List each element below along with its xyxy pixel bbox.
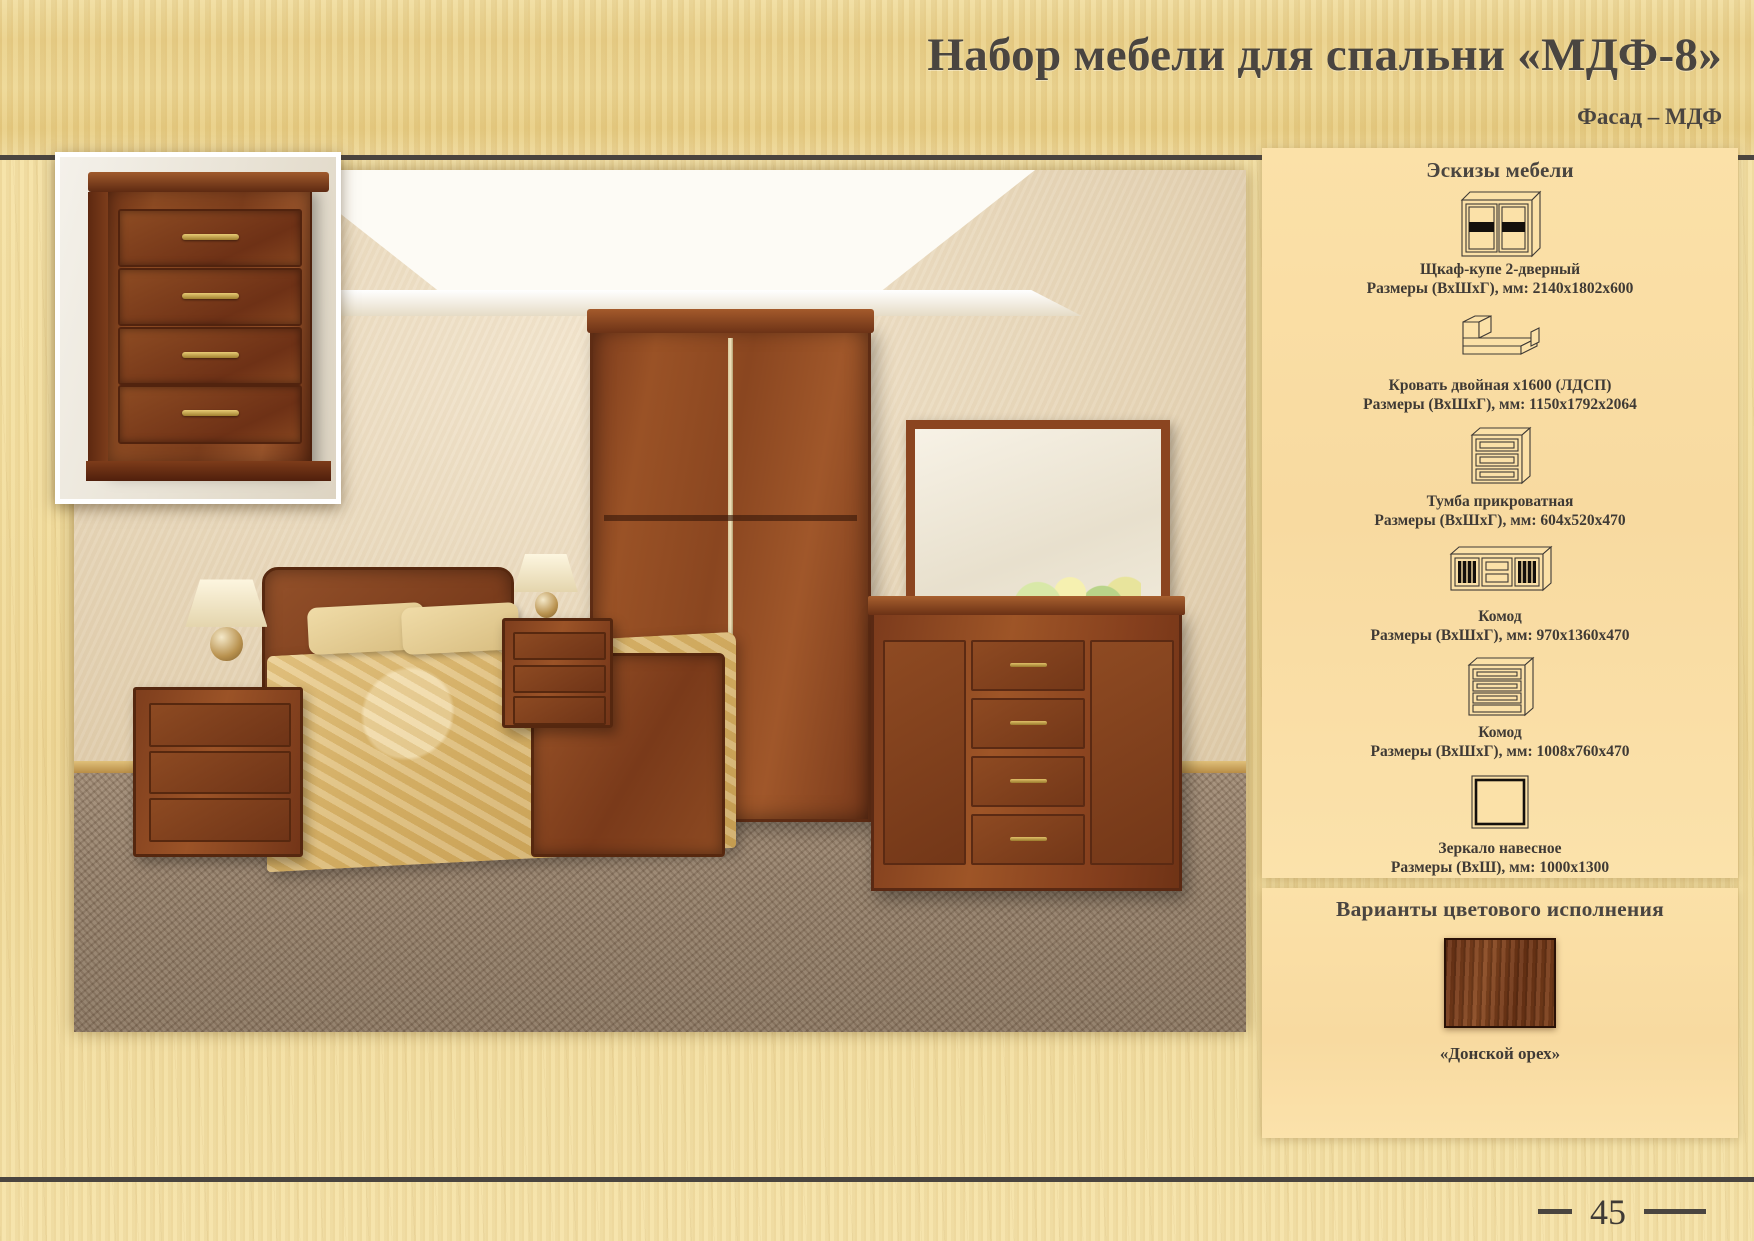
sketch-dimensions: Размеры (ВхШхГ), мм: 604х520х470 (1262, 512, 1738, 531)
dresser-drawer-3 (971, 756, 1085, 807)
chest-drawer-1 (118, 209, 302, 268)
color-swatch-group: «Донской орех» (1262, 938, 1738, 1064)
nightstand-right (502, 618, 613, 727)
sketch-name: Щкаф-купе 2-дверный (1262, 261, 1738, 280)
page-number: 45 (1590, 1191, 1626, 1233)
nightstand-right-drawer-1 (513, 632, 606, 661)
sketch-item-nightstand: Тумба прикроватная Размеры (ВхШхГ), мм: … (1262, 419, 1738, 531)
sketches-panel-title: Эскизы мебели (1262, 148, 1738, 183)
nightstand-left-drawer-3 (149, 798, 291, 841)
dresser-left-door (883, 640, 966, 865)
dresser-drawer-2 (971, 698, 1085, 749)
table-lamp-right-base (535, 592, 558, 618)
chest-of-drawers-icon (1262, 650, 1738, 724)
page-subtitle: Фасад – МДФ (1577, 104, 1722, 130)
dresser-drawer-1 (971, 640, 1085, 691)
table-lamp-left-base (210, 627, 243, 661)
sketch-item-bed: Кровать двойная х1600 (ЛДСП) Размеры (Вх… (1262, 303, 1738, 415)
sketch-name: Кровать двойная х1600 (ЛДСП) (1262, 377, 1738, 396)
footer-dash-right (1644, 1209, 1706, 1214)
chest-side-panel (88, 192, 108, 461)
chest-top-panel (88, 172, 329, 192)
chest-drawer-2 (118, 268, 302, 327)
sketch-dimensions: Размеры (ВхШхГ), мм: 2140х1802х600 (1262, 280, 1738, 299)
nightstand-right-drawer-2 (513, 665, 606, 694)
dresser-top (868, 596, 1185, 615)
nightstand-left-drawer-2 (149, 751, 291, 794)
nightstand-right-drawer-3 (513, 696, 606, 725)
wall-mirror-icon (1262, 766, 1738, 840)
color-panel-title: Варианты цветового исполнения (1262, 888, 1738, 922)
nightstand-icon (1262, 419, 1738, 493)
catalog-page: Набор мебели для спальни «МДФ-8» Фасад –… (0, 0, 1754, 1241)
sketch-dimensions: Размеры (ВхШ), мм: 1000х1300 (1262, 859, 1738, 878)
sideboard-icon (1262, 534, 1738, 608)
sketch-dimensions: Размеры (ВхШхГ), мм: 1008х760х470 (1262, 743, 1738, 762)
chest-of-drawers-object (104, 184, 312, 468)
sketch-list: Щкаф-купе 2-дверный Размеры (ВхШхГ), мм:… (1262, 183, 1738, 878)
nightstand-left (133, 687, 303, 857)
footer-dash-left (1538, 1209, 1572, 1214)
sketch-item-wardrobe: Щкаф-купе 2-дверный Размеры (ВхШхГ), мм:… (1262, 187, 1738, 299)
color-swatch-label: «Донской орех» (1440, 1044, 1560, 1064)
wardrobe-sliding-door-icon (1262, 187, 1738, 261)
chest-drawer-4 (118, 385, 302, 444)
wardrobe-cornice (587, 309, 873, 334)
chest-plinth (86, 461, 331, 481)
dresser-in-photo (871, 610, 1182, 892)
sketch-name: Комод (1262, 608, 1738, 627)
sketch-item-mirror: Зеркало навесное Размеры (ВхШ), мм: 1000… (1262, 766, 1738, 878)
sketch-name: Комод (1262, 724, 1738, 743)
dresser-right-door (1090, 640, 1173, 865)
chest-drawer-3 (118, 327, 302, 386)
sketches-panel: Эскизы мебели (1262, 148, 1738, 878)
sketch-dimensions: Размеры (ВхШхГ), мм: 970х1360х470 (1262, 627, 1738, 646)
nightstand-left-drawer-1 (149, 703, 291, 746)
page-header: Набор мебели для спальни «МДФ-8» Фасад –… (0, 0, 1754, 160)
sketch-name: Тумба прикроватная (1262, 493, 1738, 512)
bed-icon (1262, 303, 1738, 377)
sketch-item-chest: Комод Размеры (ВхШхГ), мм: 1008х760х470 (1262, 650, 1738, 762)
sketch-name: Зеркало навесное (1262, 840, 1738, 859)
sketch-dimensions: Размеры (ВхШхГ), мм: 1150х1792х2064 (1262, 396, 1738, 415)
inset-chest-photo (55, 152, 341, 504)
page-title: Набор мебели для спальни «МДФ-8» (927, 28, 1722, 82)
color-swatch-donskoy-oreh (1444, 938, 1556, 1028)
dresser-drawer-4 (971, 814, 1085, 865)
page-footer: 45 (0, 1182, 1754, 1241)
color-variants-panel: Варианты цветового исполнения «Донской о… (1262, 888, 1738, 1138)
sketch-item-sideboard: Комод Размеры (ВхШхГ), мм: 970х1360х470 (1262, 534, 1738, 646)
